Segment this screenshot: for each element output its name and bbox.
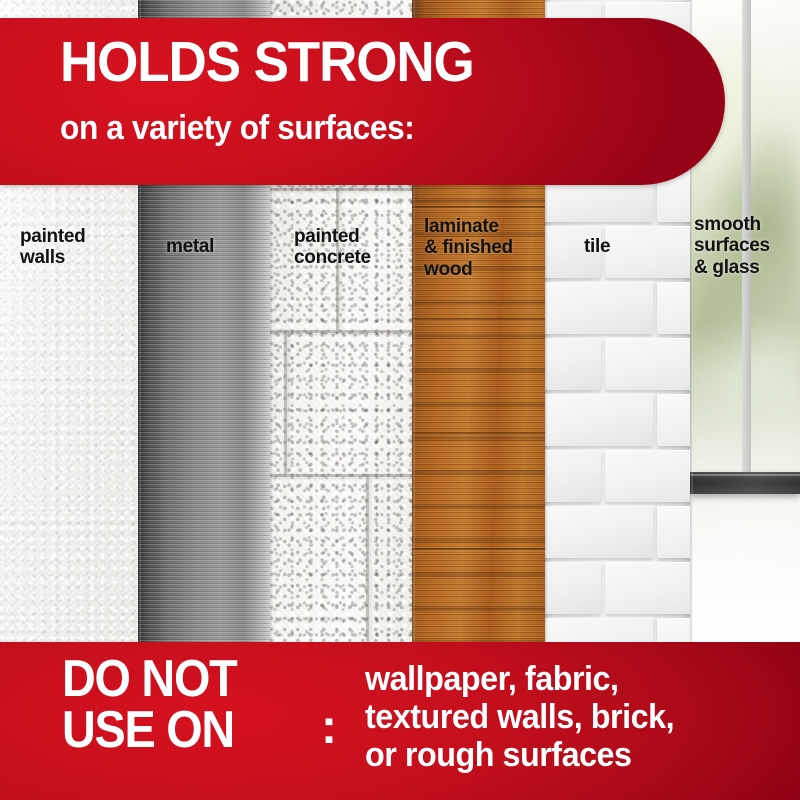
tile-unit	[545, 282, 653, 334]
surface-label-painted-concrete: painted concrete	[294, 226, 371, 269]
tile-unit	[545, 450, 601, 502]
window-frame-highlight	[690, 474, 800, 476]
headline-holds-strong: HOLDS STRONG	[60, 34, 474, 91]
tile-unit	[657, 506, 690, 558]
tile-unit	[605, 338, 690, 390]
tile-unit	[545, 562, 601, 614]
tile-unit	[545, 394, 653, 446]
mortar-joint	[270, 188, 412, 191]
wood-plank-seam	[412, 318, 545, 320]
surface-label-glass: smooth surfaces & glass	[694, 214, 770, 278]
tile-unit	[657, 282, 690, 334]
warning-excluded-surfaces-list: wallpaper, fabric, textured walls, brick…	[365, 660, 674, 774]
tile-unit	[657, 618, 690, 645]
warning-colon: :	[321, 704, 337, 752]
product-surface-compatibility-poster: painted walls metal painted concrete lam…	[0, 0, 800, 800]
warning-heading-do-not-use-on: DO NOT USE ON	[62, 654, 236, 756]
subheadline-variety-of-surfaces: on a variety of surfaces:	[60, 111, 414, 145]
mortar-joint	[270, 330, 412, 333]
mortar-joint	[270, 474, 412, 477]
mortar-joint	[366, 474, 369, 645]
tile-unit	[605, 562, 690, 614]
surface-label-tile: tile	[584, 236, 610, 257]
tile-unit	[545, 338, 601, 390]
mortar-joint	[284, 330, 287, 474]
wood-plank-seam	[412, 548, 545, 550]
window-frame-bar	[690, 472, 800, 494]
do-not-use-on-banner: DO NOT USE ON : wallpaper, fabric, textu…	[0, 642, 800, 800]
tile-unit	[605, 450, 690, 502]
surface-label-painted-walls: painted walls	[20, 226, 85, 269]
tile-unit	[657, 394, 690, 446]
surface-label-metal: metal	[166, 236, 214, 257]
wood-plank-seam	[412, 432, 545, 434]
wood-plank-seam	[412, 206, 545, 208]
surface-label-wood: laminate & finished wood	[424, 216, 513, 280]
tile-unit	[545, 618, 653, 645]
tile-unit	[605, 226, 690, 278]
tile-unit	[545, 506, 653, 558]
holds-strong-banner: HOLDS STRONG on a variety of surfaces:	[0, 18, 725, 185]
